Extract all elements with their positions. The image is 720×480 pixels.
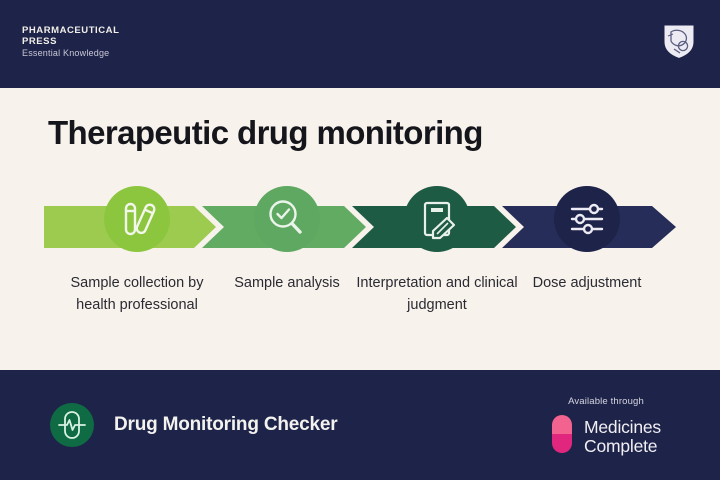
header-bar: PHARMACEUTICAL PRESS Essential Knowledge: [0, 0, 720, 88]
footer-bar: Drug Monitoring Checker Available throug…: [0, 370, 720, 480]
brand-line-2: PRESS: [22, 37, 119, 48]
step-label-3: Interpretation and clinical judgment: [352, 272, 522, 316]
page-title: Therapeutic drug monitoring: [48, 114, 483, 152]
sliders-icon: [554, 186, 620, 252]
platform-name-line1: Medicines: [584, 418, 661, 437]
main-panel: Therapeutic drug monitoring: [0, 88, 720, 370]
test-tubes-icon: [104, 186, 170, 252]
infographic-poster: PHARMACEUTICAL PRESS Essential Knowledge…: [0, 0, 720, 480]
step-label-4: Dose adjustment: [502, 272, 672, 294]
clipboard-pencil-icon: [404, 186, 470, 252]
step-circle-interpretation: [404, 186, 470, 252]
product-title: Drug Monitoring Checker: [114, 414, 337, 436]
available-through-label: Available through: [526, 396, 686, 407]
medicines-complete-logo: Available through Medicines Complete: [526, 396, 686, 459]
platform-name-line2: Complete: [584, 437, 661, 456]
step-circle-sample-collection: [104, 186, 170, 252]
brand-tagline: Essential Knowledge: [22, 48, 119, 58]
shield-crest-icon: [662, 22, 696, 60]
step-circle-sample-analysis: [254, 186, 320, 252]
pink-capsule-icon: [551, 414, 573, 459]
magnifier-check-icon: [254, 186, 320, 252]
step-label-2: Sample analysis: [202, 272, 372, 294]
step-label-1: Sample collection by health professional: [52, 272, 222, 316]
step-circle-dose-adjustment: [554, 186, 620, 252]
pharmaceutical-press-logo: PHARMACEUTICAL PRESS Essential Knowledge: [22, 26, 119, 58]
product-branding: Drug Monitoring Checker: [50, 403, 337, 447]
step-circles: [0, 186, 720, 270]
capsule-pulse-icon: [50, 403, 94, 447]
